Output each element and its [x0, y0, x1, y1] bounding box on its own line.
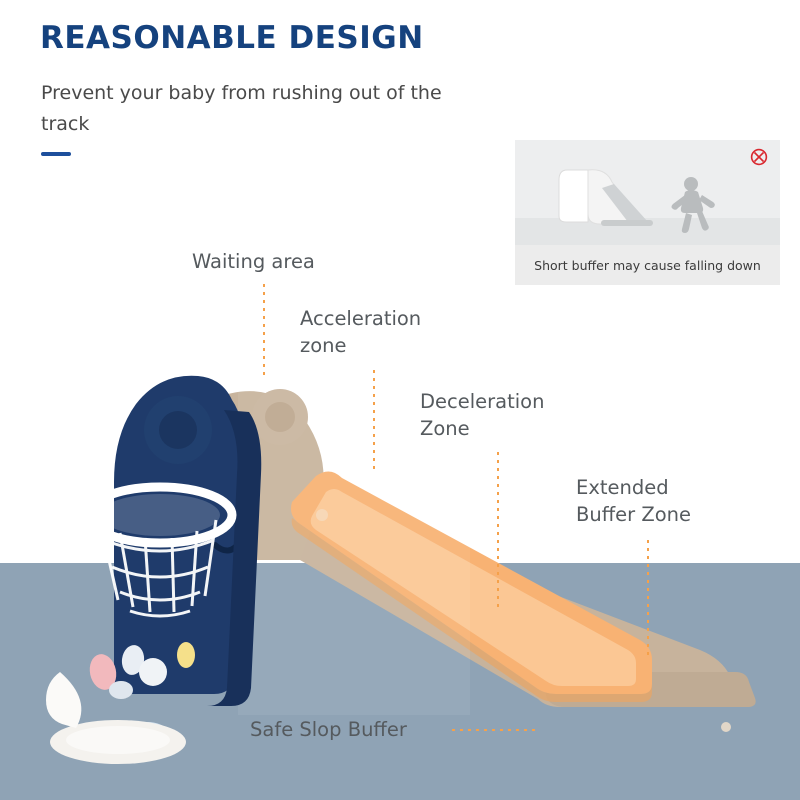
annotation-deceleration-zone: Deceleration Zone — [420, 388, 544, 442]
poster-canvas: REASONABLE DESIGN Prevent your baby from… — [0, 0, 800, 800]
product-illustration — [0, 0, 800, 800]
annotation-waiting-area: Waiting area — [192, 248, 315, 275]
annotation-extended-buffer-zone: Extended Buffer Zone — [576, 474, 691, 528]
annotation-safe-slop-buffer: Safe Slop Buffer — [250, 716, 407, 743]
annotation-acceleration-zone: Acceleration zone — [300, 305, 421, 359]
